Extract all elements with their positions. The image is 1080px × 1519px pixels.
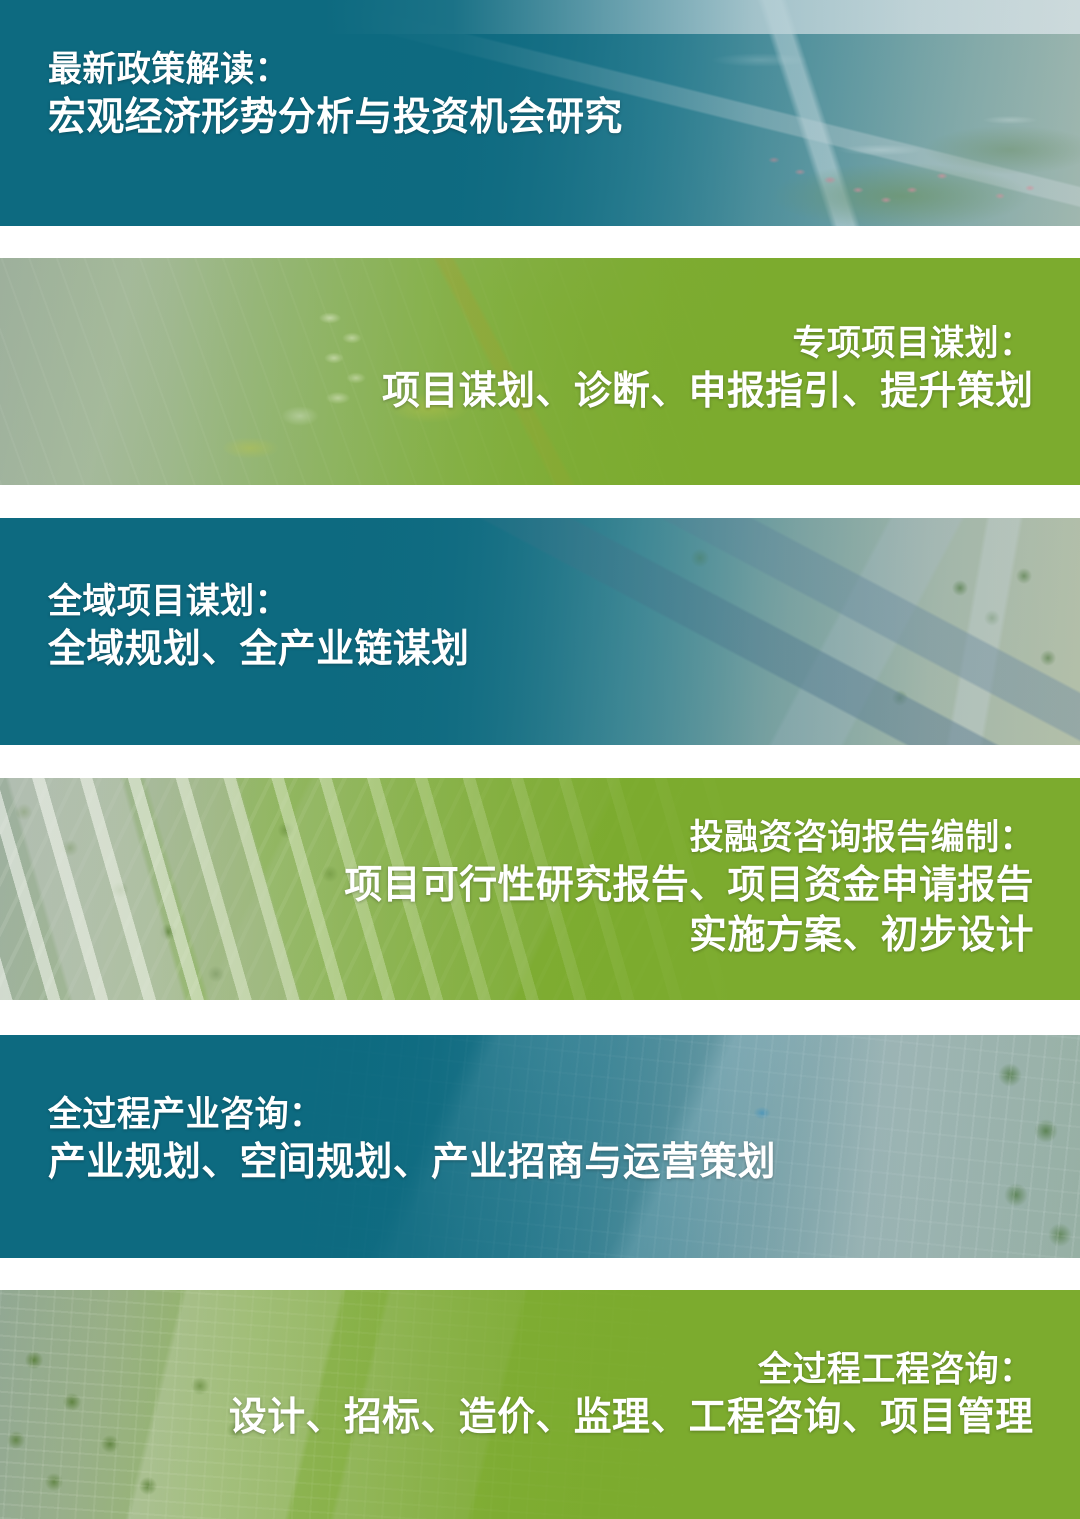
- band-investment-financing-report[interactable]: 投融资咨询报告编制： 项目可行性研究报告、项目资金申请报告 实施方案、初步设计: [0, 778, 1080, 1000]
- band-full-process-industry-consulting[interactable]: 全过程产业咨询： 产业规划、空间规划、产业招商与运营策划: [0, 1035, 1080, 1258]
- band-policy-interpretation[interactable]: 最新政策解读： 宏观经济形势分析与投资机会研究: [0, 0, 1080, 226]
- band-line-1: 宏观经济形势分析与投资机会研究: [48, 93, 623, 143]
- band-copy-special-project-planning: 专项项目谋划： 项目谋划、诊断、申报指引、提升策划: [362, 322, 1034, 417]
- band-heading: 全域项目谋划：: [48, 580, 469, 625]
- band-copy-full-process-engineering-consulting: 全过程工程咨询： 设计、招标、造价、监理、工程咨询、项目管理: [204, 1348, 1034, 1443]
- band-heading: 专项项目谋划：: [383, 322, 1034, 367]
- band-heading: 全过程产业咨询：: [48, 1093, 776, 1138]
- band-special-project-planning[interactable]: 专项项目谋划： 项目谋划、诊断、申报指引、提升策划: [0, 258, 1080, 485]
- band-copy-investment-financing-report: 投融资咨询报告编制： 项目可行性研究报告、项目资金申请报告 实施方案、初步设计: [323, 816, 1034, 961]
- band-copy-regionwide-project-planning: 全域项目谋划： 全域规划、全产业链谋划: [48, 580, 483, 675]
- band-copy-full-process-industry-consulting: 全过程产业咨询： 产业规划、空间规划、产业招商与运营策划: [48, 1093, 799, 1188]
- service-banner-page: 最新政策解读： 宏观经济形势分析与投资机会研究 专项项目谋划： 项目谋划、诊断、…: [0, 0, 1080, 1519]
- band-line-1: 项目可行性研究报告、项目资金申请报告: [344, 861, 1034, 911]
- band-regionwide-project-planning[interactable]: 全域项目谋划： 全域规划、全产业链谋划: [0, 518, 1080, 745]
- band-full-process-engineering-consulting[interactable]: 全过程工程咨询： 设计、招标、造价、监理、工程咨询、项目管理: [0, 1290, 1080, 1519]
- band-line-2: 实施方案、初步设计: [344, 911, 1034, 961]
- band-line-1: 项目谋划、诊断、申报指引、提升策划: [383, 367, 1034, 417]
- band-line-1: 设计、招标、造价、监理、工程咨询、项目管理: [229, 1393, 1034, 1443]
- band-heading: 最新政策解读：: [48, 48, 623, 93]
- band-heading: 全过程工程咨询：: [229, 1348, 1034, 1393]
- band-copy-policy-interpretation: 最新政策解读： 宏观经济形势分析与投资机会研究: [48, 48, 641, 143]
- band-line-1: 产业规划、空间规划、产业招商与运营策划: [48, 1138, 776, 1188]
- band-heading: 投融资咨询报告编制：: [344, 816, 1034, 861]
- band-line-1: 全域规划、全产业链谋划: [48, 625, 469, 675]
